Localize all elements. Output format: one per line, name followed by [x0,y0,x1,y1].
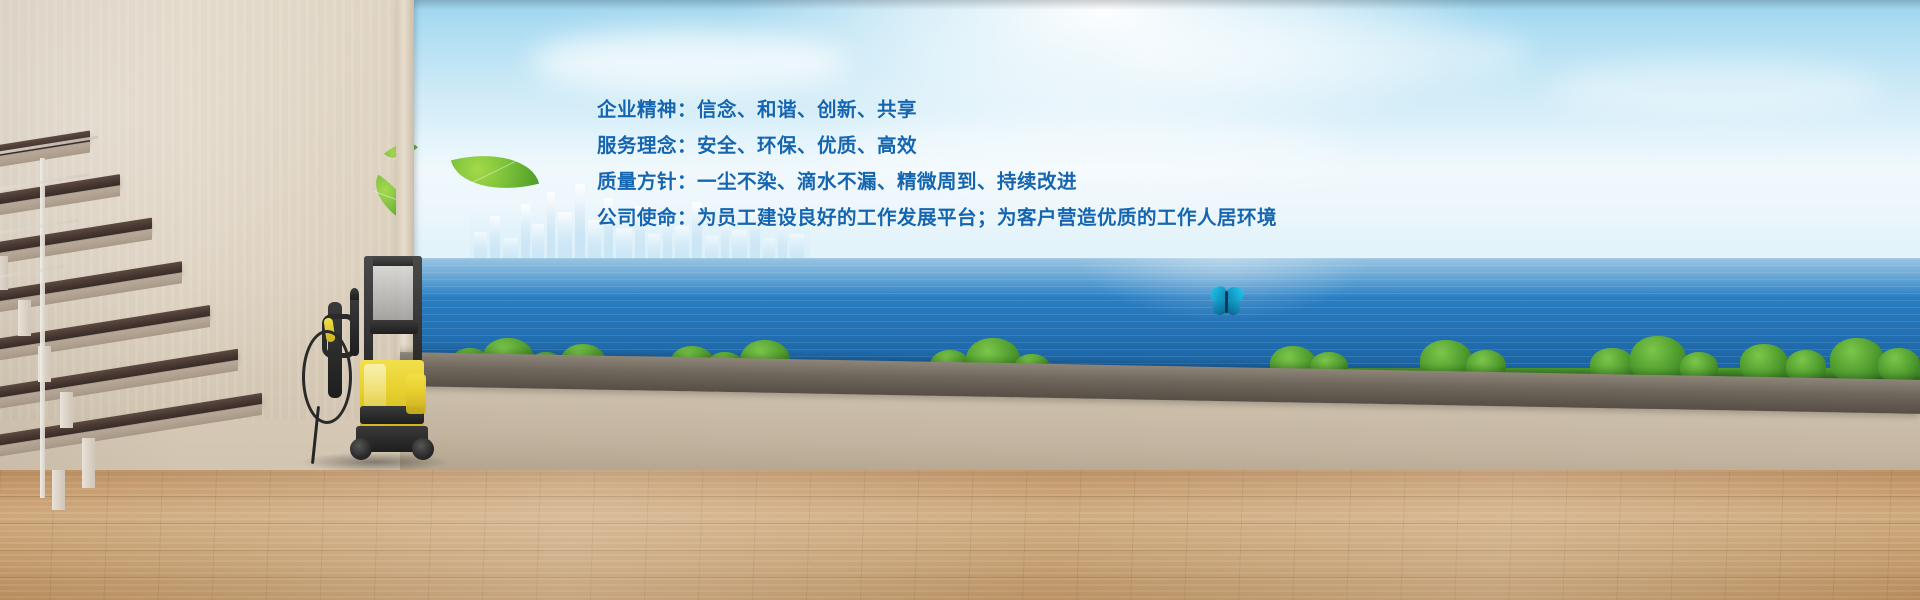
washer-handle-grip [370,320,418,334]
mission-line-1: 企业精神：信念、和谐、创新、共享 [597,92,1357,128]
cloud-1 [530,30,850,94]
washer-handle-inner [373,266,413,322]
washer-wheel-right [412,438,434,460]
stair-support-6 [52,470,65,510]
mission-line-4: 公司使命：为员工建设良好的工作发展平台；为客户营造优质的工作人居环境 [597,200,1357,236]
wood-floor [0,470,1920,600]
washer-handle-left [364,256,373,364]
mural-top-shading [410,0,1920,10]
cloud-3 [1550,60,1880,118]
butterfly [1210,285,1244,319]
washer-detergent-tank [406,374,426,414]
washer-wheel-left [350,438,372,460]
pressure-washer [306,256,436,466]
mission-text-block: 企业精神：信念、和谐、创新、共享 服务理念：安全、环保、优质、高效 质量方针：一… [597,92,1357,236]
washer-handle-right [413,256,422,364]
staircase [0,140,220,500]
banner-stage: 企业精神：信念、和谐、创新、共享 服务理念：安全、环保、优质、高效 质量方针：一… [0,0,1920,600]
cloud-2 [1110,18,1530,88]
spray-nozzle [350,288,359,300]
stair-support-4 [60,392,73,428]
mission-line-2: 服务理念：安全、环保、优质、高效 [597,128,1357,164]
stair-support-5 [82,438,95,488]
spray-lance [350,296,359,356]
stair-support-2 [18,300,31,336]
washer-hose [302,330,352,424]
mission-line-3: 质量方针：一尘不染、滴水不漏、精微周到、持续改进 [597,164,1357,200]
railing-post [40,158,45,498]
